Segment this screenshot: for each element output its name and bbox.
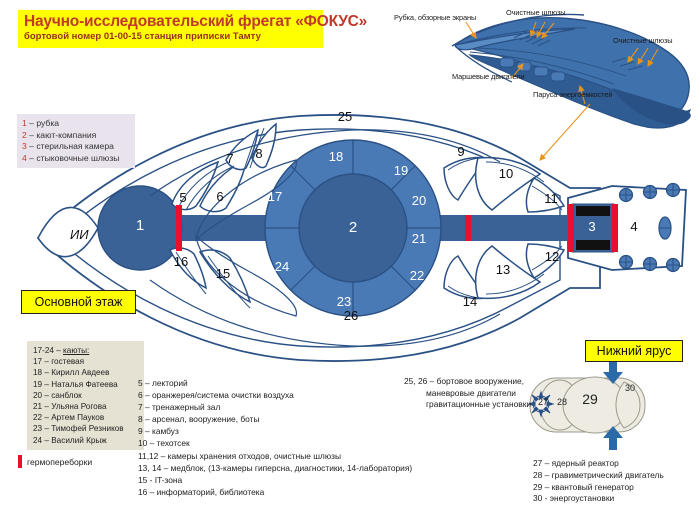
legend-label: кают-компания — [36, 130, 96, 140]
compartment-number-12: 12 — [538, 249, 566, 264]
compartment-number-13: 13 — [489, 262, 517, 277]
compartment-number-9: 9 — [447, 144, 475, 159]
legend-cabins-17-24: 17-24 – каюты: 17 – гостевая 18 – Кирилл… — [27, 341, 144, 450]
lower-deck-number-28: 28 — [552, 397, 572, 407]
legend-item: 18 – Кирилл Авдеев — [33, 367, 138, 378]
legend-cabins-header: 17-24 – каюты: — [33, 345, 138, 356]
title-banner: Научно-исследовательский фрегат «ФОКУС» … — [18, 10, 323, 48]
compartment-number-8: 8 — [245, 146, 273, 161]
main-deck-schematic — [38, 115, 686, 361]
legend-item: 17 – гостевая — [33, 356, 138, 367]
legend-item: 21 – Ульяна Рогова — [33, 401, 138, 412]
legend-label: стыковочные шлюзы — [36, 153, 119, 163]
compartment-number-10: 10 — [492, 166, 520, 181]
legend-item: 6 – оранжерея/система очистки воздуха — [138, 389, 438, 401]
compartment-number-24: 24 — [268, 259, 296, 274]
callout-cleaning-locks-right: Очистные шлюзы — [613, 36, 672, 45]
legend-item: 3 – стерильная камера — [22, 141, 130, 153]
compartment-number-4: 4 — [620, 219, 648, 234]
compartment-number-17: 17 — [261, 189, 289, 204]
compartment-number-15: 15 — [209, 266, 237, 281]
callout-main-engines: Маршевые двигатели — [452, 72, 525, 81]
ai-label: ИИ — [70, 227, 89, 242]
page-title: Научно-исследовательский фрегат «ФОКУС» — [24, 12, 317, 31]
legend-item: 7 – тренажерный зал — [138, 401, 438, 413]
compartment-number-5: 5 — [169, 190, 197, 205]
legend-key-27-30: 27 – ядерный реактор 28 – гравиметрическ… — [533, 458, 698, 505]
legend-cabins-header-prefix: 17-24 – — [33, 346, 63, 355]
compartment-number-14: 14 — [456, 294, 484, 309]
compartment-number-3: 3 — [578, 219, 606, 234]
legend-item: 16 – информаторий, библиотека — [138, 486, 438, 498]
legend-item: 25, 26 – бортовое вооружение, — [404, 376, 594, 388]
legend-item: 28 – гравиметрический двигатель — [533, 470, 698, 482]
diagram-canvas: Научно-исследовательский фрегат «ФОКУС» … — [0, 0, 700, 525]
legend-label: рубка — [36, 118, 59, 128]
legend-label: гермопереборки — [27, 457, 92, 467]
compartment-number-6: 6 — [206, 189, 234, 204]
legend-cabins-header-word: каюты: — [63, 346, 89, 355]
compartment-number-18: 18 — [322, 149, 350, 164]
lower-deck-number-27: 27 — [533, 397, 553, 407]
compartment-number-1: 1 — [126, 217, 154, 234]
legend-dash: – — [27, 118, 37, 128]
compartment-number-26: 26 — [337, 308, 365, 323]
compartment-number-22: 22 — [403, 268, 431, 283]
legend-item: 27 – ядерный реактор — [533, 458, 698, 470]
legend-item: 22 – Артем Пауков — [33, 412, 138, 423]
tag-lower-deck: Нижний ярус — [585, 340, 683, 362]
legend-item: 1 – рубка — [22, 118, 130, 130]
legend-item: 29 – квантовый генератор — [533, 482, 698, 494]
legend-item: 13, 14 – медблок, (13-камеры гиперсна, д… — [138, 462, 438, 474]
legend-item: 30 - энергоустановки — [533, 493, 698, 505]
legend-item: 8 – арсенал, вооружение, боты — [138, 413, 438, 425]
legend-item: 23 – Тимофей Резников — [33, 423, 138, 434]
compartment-number-11: 11 — [537, 191, 565, 206]
bulkhead-swatch-icon — [18, 455, 22, 468]
legend-item: 15 - IT-зона — [138, 474, 438, 486]
callout-energy-sails: Паруса энергоемкостей — [533, 90, 612, 99]
compartment-number-20: 20 — [405, 193, 433, 208]
lower-deck-number-30: 30 — [620, 383, 640, 393]
legend-dash: – — [27, 141, 37, 151]
legend-dash: – — [27, 130, 37, 140]
tag-main-deck: Основной этаж — [21, 290, 136, 314]
legend-item: 10 – техотсек — [138, 437, 438, 449]
legend-dash: – — [27, 153, 37, 163]
lower-deck-number-29: 29 — [580, 391, 600, 407]
page-subtitle: бортовой номер 01-00-15 станция приписки… — [24, 31, 317, 43]
legend-key-5-16: 5 – лекторий 6 – оранжерея/система очист… — [138, 377, 438, 498]
compartment-number-2: 2 — [339, 219, 367, 236]
legend-item: 19 – Наталья Фатеева — [33, 379, 138, 390]
legend-label: стерильная камера — [36, 141, 114, 151]
legend-item: 9 – камбуз — [138, 425, 438, 437]
compartment-number-23: 23 — [330, 294, 358, 309]
compartment-number-25: 25 — [331, 109, 359, 124]
callout-cleaning-locks-top: Очистные шлюзы — [506, 8, 565, 17]
compartment-number-21: 21 — [405, 231, 433, 246]
legend-item: 11,12 – камеры хранения отходов, очистны… — [138, 450, 438, 462]
legend-item: 5 – лекторий — [138, 377, 438, 389]
legend-bulkheads: гермопереборки — [18, 455, 92, 468]
compartment-number-7: 7 — [216, 151, 244, 166]
legend-item: 4 – стыковочные шлюзы — [22, 153, 130, 165]
legend-item: 2 – кают-компания — [22, 130, 130, 142]
legend-item: 24 – Василий Крыж — [33, 435, 138, 446]
compartment-number-19: 19 — [387, 163, 415, 178]
callout-bridge-screens: Рубка, обзорные экраны — [394, 13, 476, 22]
legend-item: 20 – санблок — [33, 390, 138, 401]
compartment-number-16: 16 — [167, 254, 195, 269]
legend-key-1-4: 1 – рубка 2 – кают-компания 3 – стерильн… — [17, 114, 135, 168]
